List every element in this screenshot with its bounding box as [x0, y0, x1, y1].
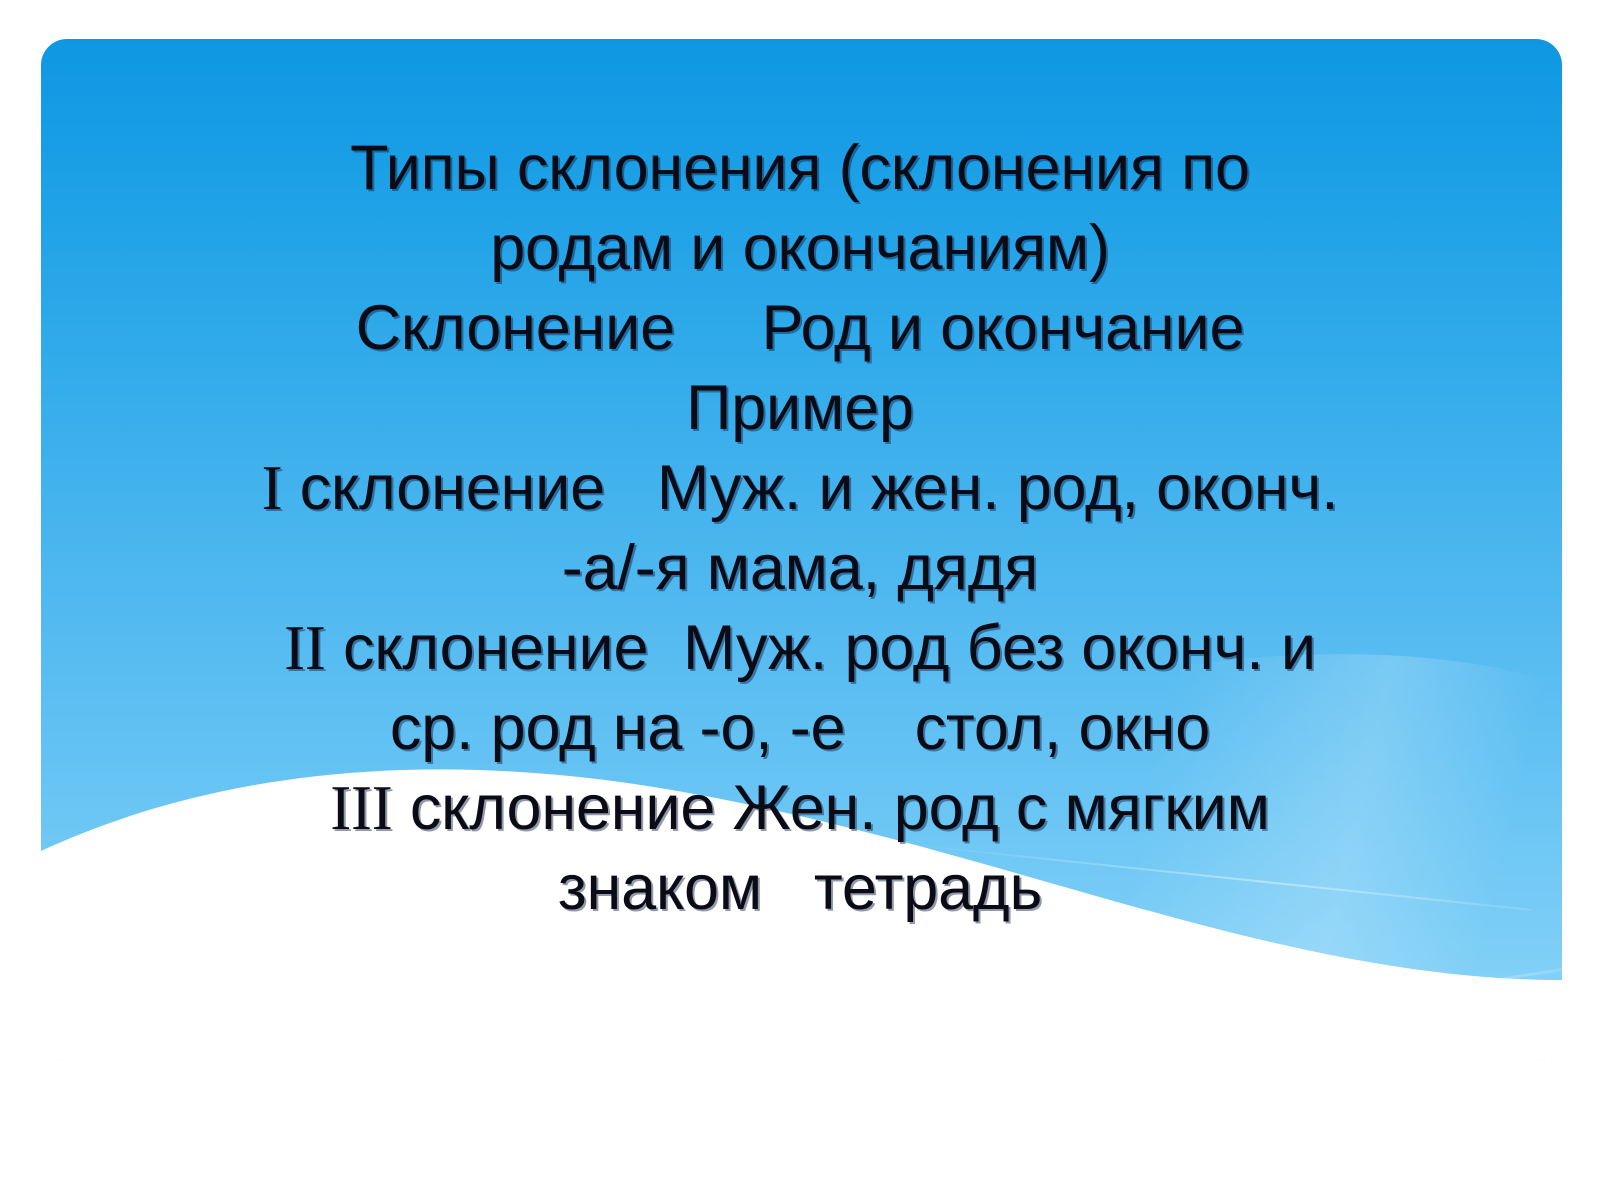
table-header-line: Склонение Род и окончание — [0, 288, 1600, 368]
roman-numeral-one: I — [262, 453, 283, 523]
row-2-line-b: ср. род на -о, -е стол, окно — [0, 688, 1600, 768]
table-header-example: Пример — [0, 368, 1600, 448]
row-1-text-a: склонение Муж. и жен. род, оконч. — [282, 453, 1338, 523]
row-3-text-a: склонение Жен. род с мягким — [393, 773, 1270, 843]
row-2-text-a: склонение Муж. род без оконч. и — [326, 613, 1316, 683]
slide-root: Типы склонения (склонения по родам и око… — [0, 0, 1600, 1200]
title-line-1: Типы склонения (склонения по — [0, 128, 1600, 208]
row-3-line-b: знаком тетрадь — [0, 848, 1600, 928]
row-1-line-a: I склонение Муж. и жен. род, оконч. — [0, 448, 1600, 528]
roman-numeral-three: III — [330, 773, 392, 843]
row-3-line-a: III склонение Жен. род с мягким — [0, 768, 1600, 848]
background-swoosh-line-upper — [811, 968, 1562, 1061]
row-1-line-b: -а/-я мама, дядя — [0, 528, 1600, 608]
row-2-line-a: II склонение Муж. род без оконч. и — [0, 608, 1600, 688]
title-line-2: родам и окончаниям) — [0, 208, 1600, 288]
roman-numeral-two: II — [284, 613, 326, 683]
slide-text-block: Типы склонения (склонения по родам и око… — [0, 0, 1600, 928]
